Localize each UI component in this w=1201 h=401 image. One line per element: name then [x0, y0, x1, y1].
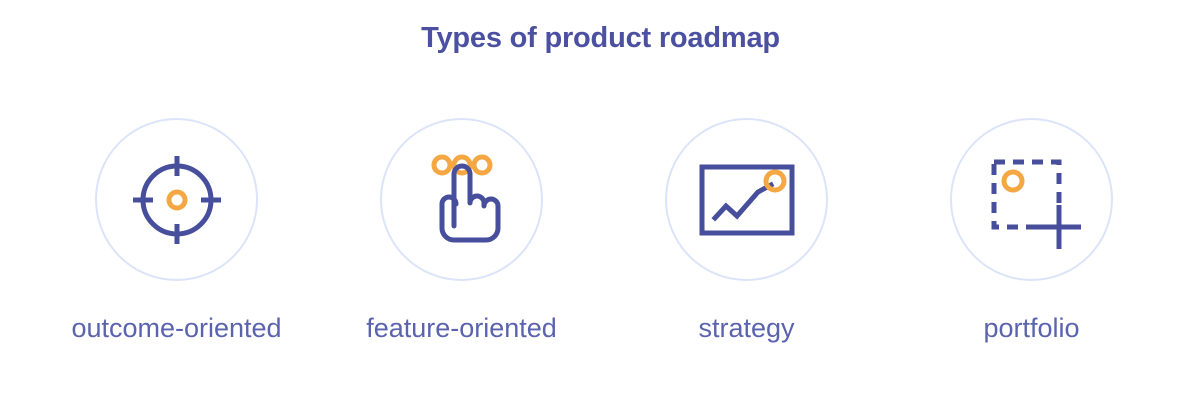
page-title: Types of product roadmap — [0, 22, 1201, 55]
roadmap-type-card-feature-oriented[interactable]: feature-oriented — [319, 118, 604, 344]
icon-circle-strategy — [665, 118, 828, 281]
infographic-root: Types of product roadmap outcome-oriente… — [0, 0, 1201, 401]
target-crosshair-icon — [122, 145, 232, 255]
icon-circle-feature-oriented — [380, 118, 543, 281]
growth-chart-icon — [692, 145, 802, 255]
icon-circle-portfolio — [950, 118, 1113, 281]
roadmap-type-label: outcome-oriented — [71, 313, 281, 344]
roadmap-type-card-strategy[interactable]: strategy — [604, 118, 889, 344]
roadmap-type-card-outcome-oriented[interactable]: outcome-oriented — [34, 118, 319, 344]
dashed-square-plus-icon — [977, 145, 1087, 255]
roadmap-type-list: outcome-oriented feature-oriented — [0, 118, 1201, 368]
roadmap-type-label: feature-oriented — [366, 313, 557, 344]
icon-circle-outcome-oriented — [95, 118, 258, 281]
pointing-hand-icon — [407, 145, 517, 255]
roadmap-type-label: strategy — [698, 313, 794, 344]
roadmap-type-card-portfolio[interactable]: portfolio — [889, 118, 1174, 344]
roadmap-type-label: portfolio — [983, 313, 1079, 344]
